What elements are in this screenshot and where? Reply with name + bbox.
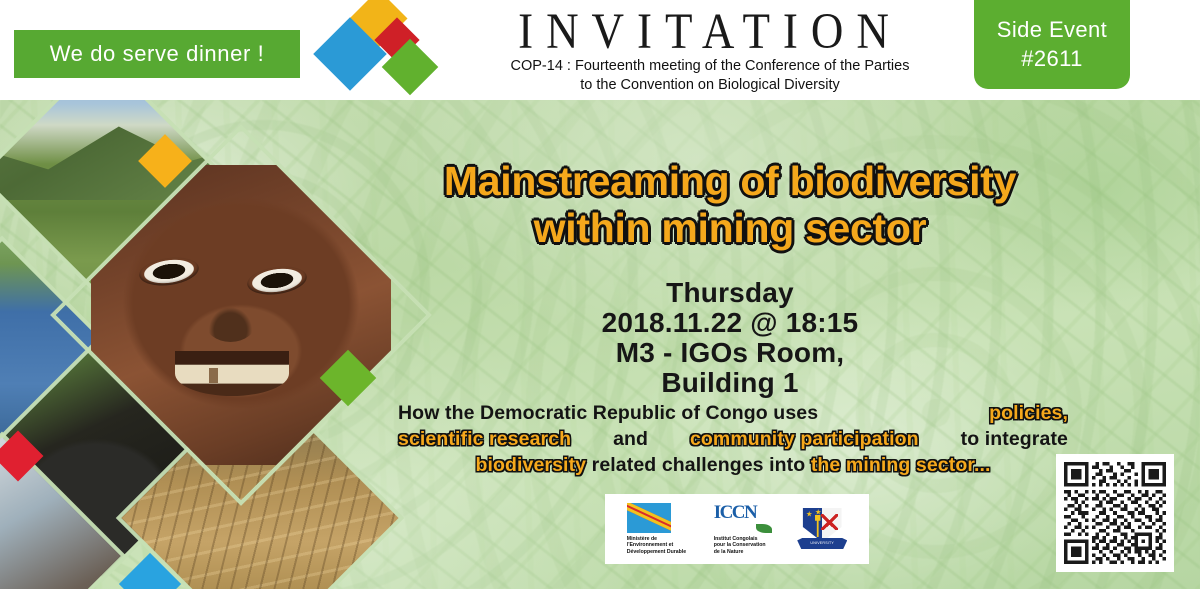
drc-ministry-logo: Ministère de l'Environnement et Développ… bbox=[627, 503, 686, 556]
drc-ministry-caption-line1: Ministère de bbox=[627, 536, 686, 543]
crossed-hammers-icon bbox=[821, 514, 838, 530]
header-band: We do serve dinner ! INVITATION COP-14 :… bbox=[0, 0, 1200, 100]
event-title: Mainstreaming of biodiversity within min… bbox=[390, 158, 1070, 252]
event-when-block: Thursday 2018.11.22 @ 18:15 M3 - IGOs Ro… bbox=[390, 278, 1070, 398]
child-right-eye bbox=[245, 263, 308, 298]
iccn-mark-icon: ICCN bbox=[714, 503, 770, 533]
bird-icon bbox=[754, 504, 771, 520]
event-title-line2: within mining sector bbox=[534, 205, 927, 251]
star-icon bbox=[806, 511, 812, 517]
conference-subtitle-line2: to the Convention on Biological Diversit… bbox=[430, 76, 990, 95]
side-event-badge: Side Event #2611 bbox=[974, 0, 1130, 89]
qr-code-svg bbox=[1064, 462, 1166, 564]
page-title: INVITATION bbox=[455, 3, 965, 59]
description-line-2: scientific research and community partic… bbox=[398, 426, 1068, 452]
event-building: Building 1 bbox=[390, 368, 1070, 398]
child-nose bbox=[205, 303, 256, 342]
partner-logos-panel: Ministère de l'Environnement et Développ… bbox=[605, 494, 869, 564]
drc-ministry-caption-line3: Développement Durable bbox=[627, 549, 686, 556]
conference-subtitle-line1: COP-14 : Fourteenth meeting of the Confe… bbox=[430, 57, 990, 76]
iccn-caption-line2: pour la Conservation bbox=[714, 542, 766, 549]
description-line-3: biodiversity related challenges into the… bbox=[398, 452, 1068, 478]
side-event-number: #2611 bbox=[1021, 44, 1083, 73]
event-title-line1: Mainstreaming of biodiversity bbox=[444, 158, 1016, 204]
description-line-1: How the Democratic Republic of Congo use… bbox=[398, 400, 1068, 426]
description-highlight-community-participation: community participation bbox=[690, 426, 919, 452]
iccn-caption-line1: Institut Congolais bbox=[714, 536, 766, 543]
description-line3-plain: related challenges into bbox=[592, 454, 806, 476]
university-crest-logo: UNIVERSITY bbox=[797, 507, 847, 551]
conference-subtitle: COP-14 : Fourteenth meeting of the Confe… bbox=[430, 57, 990, 95]
crest-ribbon: UNIVERSITY bbox=[797, 538, 847, 549]
description-highlight-scientific-research: scientific research bbox=[398, 426, 571, 452]
description-highlight-policies: policies, bbox=[989, 400, 1068, 426]
dinner-banner: We do serve dinner ! bbox=[14, 30, 300, 78]
event-room: M3 - IGOs Room, bbox=[390, 338, 1070, 368]
leaf-icon bbox=[756, 524, 772, 533]
description-line2-tail: to integrate bbox=[961, 426, 1068, 452]
cbd-diamond-logo bbox=[318, 2, 434, 98]
description-line2-and: and bbox=[613, 426, 648, 452]
photo-collage bbox=[0, 100, 432, 589]
description-highlight-biodiversity: biodiversity bbox=[475, 454, 586, 476]
child-left-eye bbox=[137, 254, 200, 289]
shield-icon bbox=[801, 508, 843, 542]
flag-stripe bbox=[627, 503, 671, 533]
description-highlight-mining-sector: the mining sector... bbox=[811, 454, 991, 476]
event-day: Thursday bbox=[390, 278, 1070, 308]
iccn-caption-line3: de la Nature bbox=[714, 549, 766, 556]
dinner-banner-label: We do serve dinner ! bbox=[50, 41, 265, 67]
qr-code[interactable] bbox=[1056, 454, 1174, 572]
drc-flag-icon bbox=[627, 503, 671, 533]
child-smile bbox=[175, 351, 289, 396]
event-description: How the Democratic Republic of Congo use… bbox=[398, 400, 1068, 478]
event-datetime: 2018.11.22 @ 18:15 bbox=[390, 308, 1070, 338]
side-event-label: Side Event bbox=[997, 15, 1107, 44]
iccn-logo: ICCN Institut Congolais pour la Conserva… bbox=[714, 503, 770, 556]
crest-ribbon-text: UNIVERSITY bbox=[797, 538, 847, 549]
drc-ministry-caption-line2: l'Environnement et bbox=[627, 542, 686, 549]
invitation-poster: Mainstreaming of biodiversity within min… bbox=[0, 0, 1200, 589]
description-line1-plain: How the Democratic Republic of Congo use… bbox=[398, 400, 818, 426]
